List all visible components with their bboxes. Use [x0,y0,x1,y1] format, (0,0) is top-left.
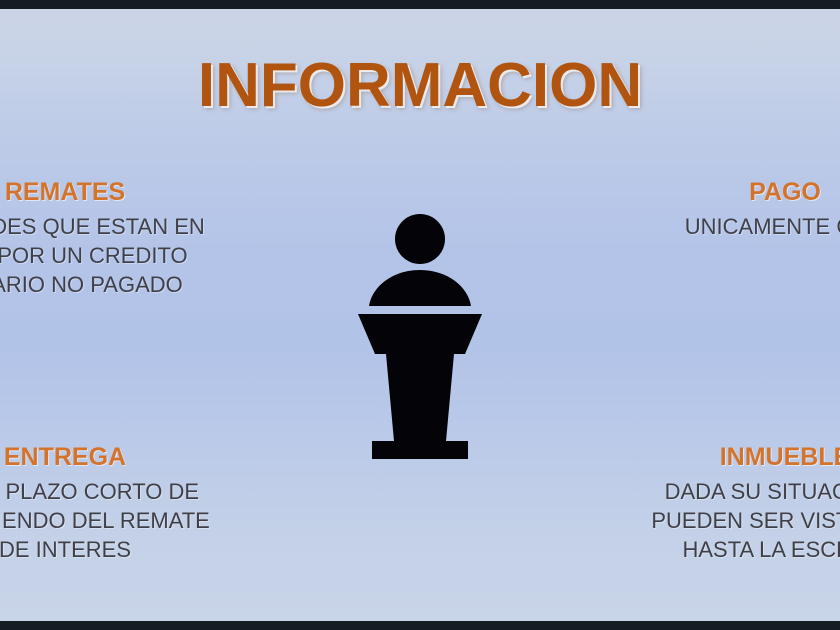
text-block-entrega: ENTREGA DE UN PLAZO CORTO DE EPENDIENDO … [0,443,250,564]
slide-canvas: INFORMACION REMATES PIEDADES QUE ESTAN E… [0,0,840,630]
block-line: EPENDIENDO DEL REMATE [0,506,250,535]
block-line: DE INTERES [0,535,250,564]
text-block-remates: REMATES PIEDADES QUE ESTAN EN NTIA POR U… [0,178,250,299]
block-heading-remates: REMATES [0,178,250,207]
block-heading-entrega: ENTREGA [0,443,250,472]
block-line: NTIA POR UN CREDITO [0,241,250,270]
block-line: PIEDADES QUE ESTAN EN [0,212,250,241]
block-heading-inmuebles: INMUEBLE [600,443,840,472]
block-line: TECARIO NO PAGADO [0,270,250,299]
letterbox-bar-top [0,0,840,9]
text-block-pago: PAGO UNICAMENTE CON [600,178,840,241]
block-line: UNICAMENTE CON [600,212,840,241]
block-line: HASTA LA ESCRITU [600,535,840,564]
block-heading-pago: PAGO [600,178,840,207]
block-line: PUEDEN SER VISTOS PO [600,506,840,535]
podium-speaker-icon [352,213,488,467]
slide-title: INFORMACION [0,55,840,117]
text-block-inmuebles: INMUEBLE DADA SU SITUACION L PUEDEN SER … [600,443,840,564]
block-line: DADA SU SITUACION L [600,477,840,506]
letterbox-bar-bottom [0,621,840,630]
block-line: DE UN PLAZO CORTO DE [0,477,250,506]
